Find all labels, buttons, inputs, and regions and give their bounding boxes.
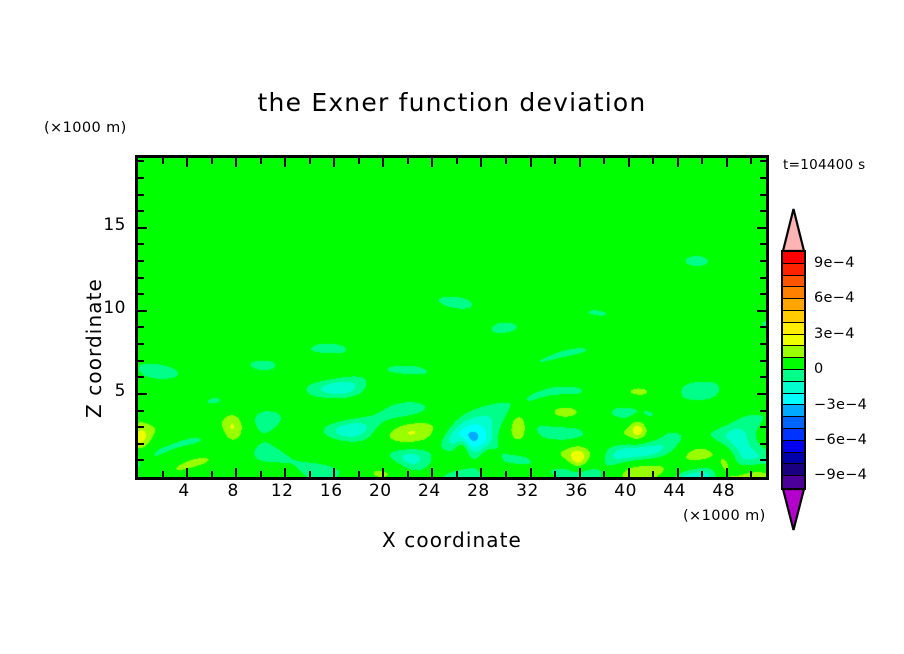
axis-tick [760, 243, 766, 245]
axis-tick [382, 468, 384, 477]
axis-tick [554, 471, 556, 477]
axis-tick [760, 210, 766, 212]
axis-tick [309, 471, 311, 477]
colorbar-tick-label: −9e−4 [814, 467, 867, 483]
axis-tick [603, 158, 605, 164]
axis-tick [138, 160, 144, 162]
x-tick-label: 4 [178, 481, 189, 501]
axis-tick [333, 158, 335, 167]
axis-tick [186, 158, 188, 167]
colorbar-tick-label: 3e−4 [814, 326, 855, 342]
axis-tick [235, 468, 237, 477]
axis-tick [760, 194, 766, 196]
x-tick-label: 40 [614, 481, 637, 501]
axis-tick [138, 410, 144, 412]
contour-field [138, 158, 766, 477]
axis-tick [760, 426, 766, 428]
axis-tick [757, 393, 766, 395]
axis-tick [677, 468, 679, 477]
y-tick-label: 5 [86, 381, 126, 401]
figure-canvas: the Exner function deviation (×1000 m) (… [0, 0, 904, 654]
axis-tick [211, 158, 213, 164]
axis-tick [628, 158, 630, 167]
axis-tick [138, 310, 147, 312]
axis-tick [358, 471, 360, 477]
axis-tick [760, 443, 766, 445]
axis-tick [382, 158, 384, 167]
axis-tick [579, 158, 581, 167]
axis-tick [235, 158, 237, 167]
axis-tick [480, 468, 482, 477]
axis-tick [760, 360, 766, 362]
x-tick-label: 32 [516, 481, 539, 501]
axis-tick [333, 468, 335, 477]
axis-tick [603, 471, 605, 477]
axis-tick [284, 468, 286, 477]
axis-tick [138, 293, 144, 295]
colorbar-tick-label: 0 [814, 361, 824, 377]
chart-title: the Exner function deviation [0, 88, 904, 117]
axis-tick [456, 471, 458, 477]
axis-tick [760, 177, 766, 179]
axis-tick [309, 158, 311, 164]
axis-tick [760, 260, 766, 262]
axis-tick [260, 158, 262, 164]
axis-tick [757, 227, 766, 229]
axis-tick [138, 177, 144, 179]
axis-tick [652, 471, 654, 477]
axis-tick [652, 158, 654, 164]
axis-tick [677, 158, 679, 167]
colorbar-tick-label: −3e−4 [814, 397, 867, 413]
x-tick-label: 24 [418, 481, 441, 501]
axis-tick [162, 471, 164, 477]
axis-tick [431, 158, 433, 167]
time-annotation: t=104400 s [783, 157, 865, 173]
axis-tick [138, 426, 144, 428]
colorbar-tick-label: 9e−4 [814, 255, 855, 271]
axis-tick [456, 158, 458, 164]
axis-tick [760, 343, 766, 345]
x-axis-title: X coordinate [0, 528, 904, 552]
axis-tick [186, 468, 188, 477]
axis-tick [628, 468, 630, 477]
axis-tick [760, 326, 766, 328]
x-tick-label: 20 [369, 481, 392, 501]
axis-tick [750, 471, 752, 477]
x-tick-label: 44 [663, 481, 686, 501]
axis-tick [760, 410, 766, 412]
axis-tick [138, 194, 144, 196]
axis-tick [760, 376, 766, 378]
x-tick-label: 12 [271, 481, 294, 501]
axis-tick [284, 158, 286, 167]
axis-tick [431, 468, 433, 477]
axis-tick [260, 471, 262, 477]
axis-tick [138, 326, 144, 328]
axis-tick [407, 471, 409, 477]
axis-tick [757, 310, 766, 312]
y-tick-label: 10 [86, 298, 126, 318]
axis-tick [726, 468, 728, 477]
axis-tick [138, 243, 144, 245]
axis-tick [138, 393, 147, 395]
axis-tick [138, 459, 144, 461]
colorbar-tick-labels: 9e−46e−43e−40−3e−4−6e−4−9e−4 [781, 208, 901, 538]
y-axis-units-label: (×1000 m) [44, 120, 127, 136]
axis-tick [530, 158, 532, 167]
axis-tick [760, 160, 766, 162]
axis-tick [138, 260, 144, 262]
colorbar-tick-label: −6e−4 [814, 432, 867, 448]
axis-tick [579, 468, 581, 477]
axis-tick [750, 158, 752, 164]
axis-tick [480, 158, 482, 167]
y-tick-label: 15 [86, 215, 126, 235]
axis-tick [138, 277, 144, 279]
axis-tick [138, 210, 144, 212]
axis-tick [505, 158, 507, 164]
axis-tick [138, 360, 144, 362]
x-tick-label: 28 [467, 481, 490, 501]
axis-tick [505, 471, 507, 477]
x-tick-label: 16 [320, 481, 343, 501]
colorbar-tick-label: 6e−4 [814, 290, 855, 306]
axis-tick [530, 468, 532, 477]
axis-tick [554, 158, 556, 164]
axis-tick [138, 376, 144, 378]
axis-tick [760, 459, 766, 461]
axis-tick [211, 471, 213, 477]
x-tick-label: 8 [227, 481, 238, 501]
axis-tick [138, 227, 147, 229]
axis-tick [138, 443, 144, 445]
x-axis-units-label: (×1000 m) [683, 508, 766, 524]
axis-tick [407, 158, 409, 164]
axis-tick [760, 293, 766, 295]
x-tick-label: 36 [565, 481, 588, 501]
axis-tick [726, 158, 728, 167]
axis-tick [701, 471, 703, 477]
axis-tick [162, 158, 164, 164]
x-tick-label: 48 [712, 481, 735, 501]
plot-area [135, 155, 769, 480]
axis-tick [138, 343, 144, 345]
axis-tick [760, 277, 766, 279]
y-axis-tick-labels: 51015 [82, 155, 126, 474]
axis-tick [358, 158, 360, 164]
axis-tick [701, 158, 703, 164]
